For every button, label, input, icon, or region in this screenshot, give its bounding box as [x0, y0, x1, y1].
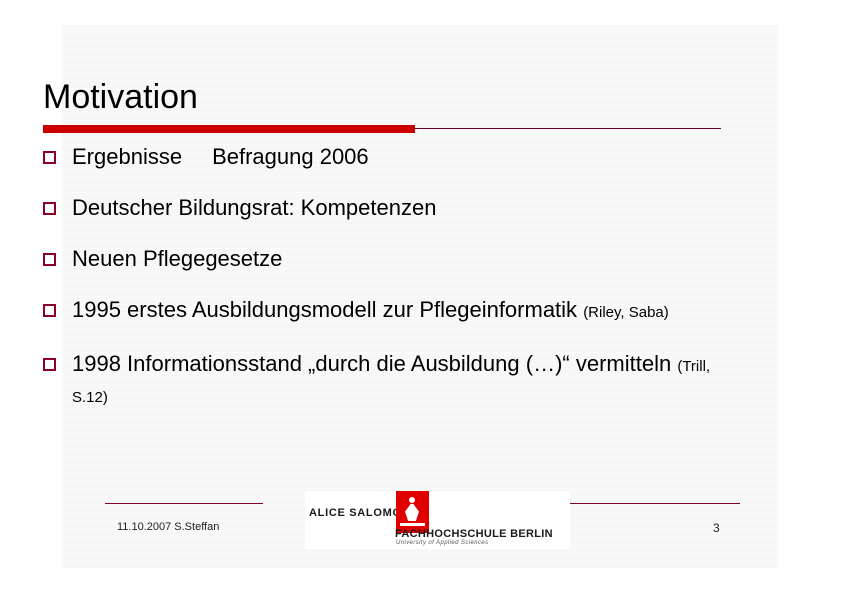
list-item-main-text: 1995 erstes Ausbildungsmodell zur Pflege… [72, 297, 577, 322]
university-logo: ALICE SALOMON FACHHOCHSCHULE BERLIN Univ… [305, 491, 570, 549]
slide-page: Motivation ErgebnisseBefragung 2006 Deut… [0, 0, 842, 595]
list-item-citation: (Riley, Saba) [583, 304, 669, 321]
list-item: Neuen Pflegegesetze [43, 245, 715, 273]
emblem-figure-bar [400, 523, 425, 526]
list-item: 1995 erstes Ausbildungsmodell zur Pflege… [43, 296, 715, 327]
list-item-main-text: Neuen Pflegegesetze [72, 246, 282, 271]
emblem-figure-head [409, 497, 415, 503]
square-outline-bullet-icon [43, 304, 56, 317]
list-item: Deutscher Bildungsrat: Kompetenzen [43, 194, 715, 222]
list-item-main-text: Ergebnisse [72, 144, 182, 169]
list-item: ErgebnisseBefragung 2006 [43, 143, 715, 171]
emblem-figure-body [405, 504, 419, 521]
list-item-text: 1998 Informationsstand „durch die Ausbil… [72, 350, 715, 412]
square-outline-bullet-icon [43, 358, 56, 371]
list-item-text: Deutscher Bildungsrat: Kompetenzen [72, 194, 715, 222]
square-outline-bullet-icon [43, 202, 56, 215]
footer-divider-right [548, 503, 740, 504]
list-item-secondary-text: Befragung 2006 [212, 144, 369, 169]
page-title-block: Motivation [43, 78, 703, 116]
list-item-text: 1995 erstes Ausbildungsmodell zur Pflege… [72, 296, 715, 327]
list-item-text: ErgebnisseBefragung 2006 [72, 143, 715, 171]
logo-school-text: FACHHOCHSCHULE BERLIN [395, 528, 553, 540]
list-item-main-text: Deutscher Bildungsrat: Kompetenzen [72, 195, 436, 220]
list-item-text: Neuen Pflegegesetze [72, 245, 715, 273]
alice-salomon-emblem-icon [396, 491, 429, 533]
list-item: 1998 Informationsstand „durch die Ausbil… [43, 350, 715, 412]
footer-date-author: 11.10.2007 S.Steffan [117, 521, 219, 533]
title-divider [43, 124, 721, 134]
square-outline-bullet-icon [43, 253, 56, 266]
page-title: Motivation [43, 78, 703, 116]
square-outline-bullet-icon [43, 151, 56, 164]
logo-tagline-text: University of Applied Sciences [396, 540, 488, 546]
footer-divider-left [105, 503, 263, 504]
title-divider-accent-bar [43, 125, 415, 133]
list-item-main-text: 1998 Informationsstand „durch die Ausbil… [72, 351, 671, 376]
page-number: 3 [713, 521, 720, 535]
bullet-list: ErgebnisseBefragung 2006 Deutscher Bildu… [43, 143, 715, 435]
